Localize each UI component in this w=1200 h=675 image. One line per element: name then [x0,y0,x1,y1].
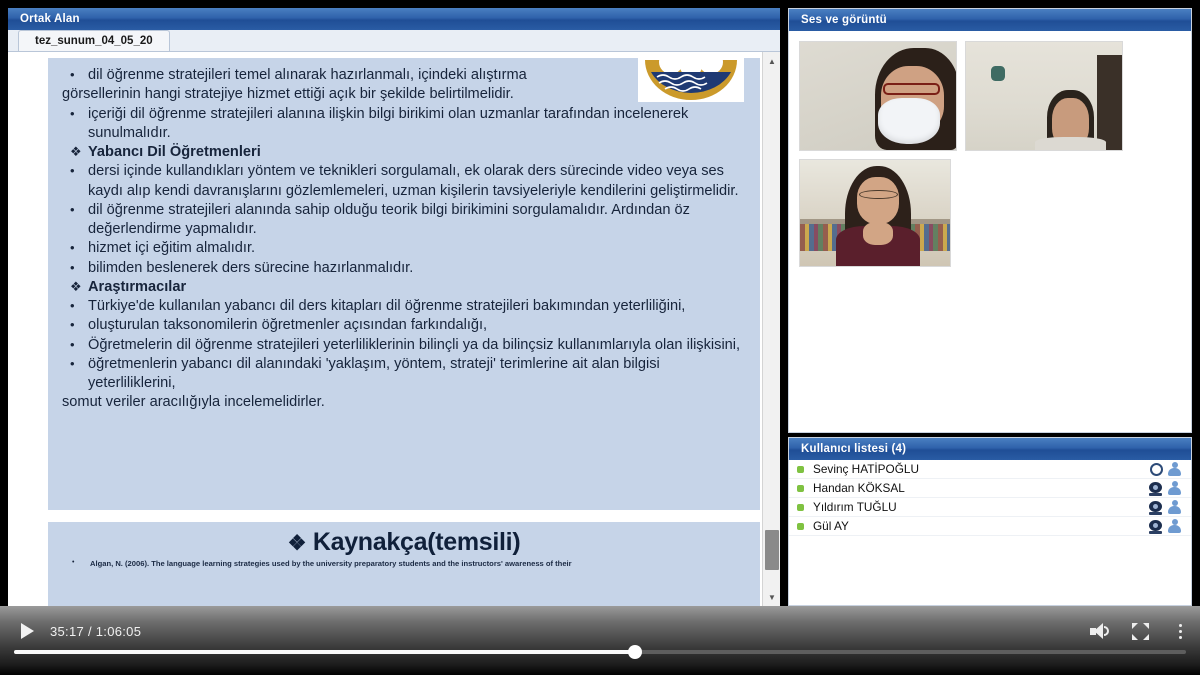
user-list-item[interactable]: Gül AY [789,517,1191,536]
slide-current: • dil öğrenme stratejileri temel alınara… [48,58,760,510]
slide-next-title: Kaynakça(temsili) [313,528,521,556]
slide-line: • öğretmenlerin yabancı dil alanındaki '… [62,355,746,394]
online-status-icon [797,504,804,511]
user-list-panel: Kullanıcı listesi (4) Sevinç HATİPOĞLU H… [788,437,1192,606]
player-control-bar: 35:17 / 1:06:05 [0,606,1200,675]
slide-line: • içeriği dil öğrenme stratejileri alanı… [62,105,746,144]
slide-line: • dil öğrenme stratejileri alanında sahi… [62,201,746,240]
shared-area-title: Ortak Alan [8,8,780,30]
expand-button[interactable] [1120,623,1160,640]
progress-bar[interactable] [14,646,1186,658]
reference-row: • Algan, N. (2006). The language learnin… [62,559,746,568]
bullet-text: oluşturulan taksonomilerin öğretmenler a… [88,316,746,335]
diamond-bullet-icon: ❖ [288,532,307,555]
reference-text: Algan, N. (2006). The language learning … [90,559,572,568]
time-display: 35:17 / 1:06:05 [50,624,141,639]
user-icons [1150,462,1191,476]
scroll-down-icon[interactable]: ▼ [763,588,780,606]
slide-scroll-area: • dil öğrenme stratejileri temel alınara… [8,52,762,606]
bullet-text: öğretmenlerin yabancı dil alanındaki 'ya… [88,355,746,394]
audio-video-title: Ses ve görüntü [789,9,1191,31]
bullet-text: Türkiye'de kullanılan yabancı dil ders k… [88,297,746,316]
slide-heading: ❖ Araştırmacılar [62,278,746,297]
webcam-video-1 [800,42,956,150]
player-controls-row: 35:17 / 1:06:05 [0,614,1200,648]
bullet-marker: • [62,297,88,316]
participant-icon[interactable] [1168,519,1181,533]
bullet-text: dersi içinde kullandıkları yöntem ve tek… [88,162,746,201]
user-icons [1148,481,1191,495]
participant-icon[interactable] [1168,481,1181,495]
user-name: Sevinç HATİPOĞLU [813,462,1150,476]
user-list-title: Kullanıcı listesi (4) [789,438,1191,460]
expand-icon [1132,623,1149,640]
volume-button[interactable] [1080,623,1120,639]
webcam-tile-3[interactable] [799,159,951,267]
webcam-tile-1[interactable] [799,41,957,151]
bullet-marker: • [62,162,88,201]
participant-icon[interactable] [1168,462,1181,476]
bullet-text: bilimden beslenerek ders sürecine hazırl… [88,259,746,278]
slide-heading: ❖ Yabancı Dil Öğretmenleri [62,143,746,162]
bullet-marker: • [62,316,88,335]
slide-line: • Türkiye'de kullanılan yabancı dil ders… [62,297,746,316]
bullet-text: içeriği dil öğrenme stratejileri alanına… [88,105,746,144]
slide-closing-line: somut veriler aracılığıyla incelemelidir… [62,393,746,412]
camera-off-icon[interactable] [1150,463,1163,476]
bullet-text: dil öğrenme stratejileri alanında sahip … [88,201,746,240]
online-status-icon [797,485,804,492]
bullet-marker: • [62,201,88,240]
bullet-marker: • [62,66,88,85]
diamond-bullet-icon: ❖ [62,143,88,162]
play-icon [21,623,34,639]
user-list-item[interactable]: Handan KÖKSAL [789,479,1191,498]
slide-viewport: • dil öğrenme stratejileri temel alınara… [8,52,780,606]
more-options-button[interactable] [1160,624,1200,639]
webcam-tile-2[interactable] [965,41,1123,151]
webcam-video-2 [966,42,1122,150]
bullet-marker: • [62,259,88,278]
online-status-icon [797,523,804,530]
slide-line: • dersi içinde kullandıkları yöntem ve t… [62,162,746,201]
bullet-text: hizmet içi eğitim almalıdır. [88,239,746,258]
camera-on-icon[interactable] [1148,520,1163,533]
bullet-marker: • [62,105,88,144]
bullet-marker: • [62,336,88,355]
participant-icon[interactable] [1168,500,1181,514]
shared-area-panel: Ortak Alan tez_sunum_04_05_20 [8,8,780,606]
slide-line: • Öğretmelerin dil öğrenme stratejileri … [62,336,746,355]
user-name: Yıldırım TUĞLU [813,500,1148,514]
slide-scrollbar[interactable]: ▲ ▼ [762,52,780,606]
slide-line: • bilimden beslenerek ders sürecine hazı… [62,259,746,278]
user-list-item[interactable]: Sevinç HATİPOĞLU [789,460,1191,479]
more-options-icon [1179,624,1182,639]
progress-handle[interactable] [628,645,642,659]
bullet-marker: • [62,559,90,568]
heading-text: Araştırmacılar [88,278,746,297]
camera-on-icon[interactable] [1148,501,1163,514]
volume-icon [1090,623,1110,639]
online-status-icon [797,466,804,473]
bullet-marker: • [62,239,88,258]
university-emblem-icon [638,58,744,102]
audio-video-panel: Ses ve görüntü [788,8,1192,433]
tab-strip: tez_sunum_04_05_20 [8,30,780,52]
slide-next: ❖ Kaynakça(temsili) • Algan, N. (2006). … [48,522,760,606]
user-icons [1148,500,1191,514]
slide-bullet-list: • dil öğrenme stratejileri temel alınara… [62,66,746,413]
bullet-marker: • [62,355,88,394]
progress-fill [14,650,635,654]
tab-presentation[interactable]: tez_sunum_04_05_20 [18,30,170,51]
user-icons [1148,519,1191,533]
video-player-screen: Ortak Alan tez_sunum_04_05_20 [0,0,1200,675]
bullet-text: Öğretmelerin dil öğrenme stratejileri ye… [88,336,746,355]
camera-on-icon[interactable] [1148,482,1163,495]
webcam-video-3 [800,160,950,266]
webcam-grid [789,31,1191,267]
user-name: Handan KÖKSAL [813,481,1148,495]
slide-line: • hizmet içi eğitim almalıdır. [62,239,746,258]
diamond-bullet-icon: ❖ [62,278,88,297]
user-list-item[interactable]: Yıldırım TUĞLU [789,498,1191,517]
scroll-up-icon[interactable]: ▲ [763,52,780,70]
slide-line: • oluşturulan taksonomilerin öğretmenler… [62,316,746,335]
slide-next-title-row: ❖ Kaynakça(temsili) [62,528,746,557]
heading-text: Yabancı Dil Öğretmenleri [88,143,746,162]
user-name: Gül AY [813,519,1148,533]
play-button[interactable] [10,623,44,639]
scrollbar-thumb[interactable] [765,530,779,570]
